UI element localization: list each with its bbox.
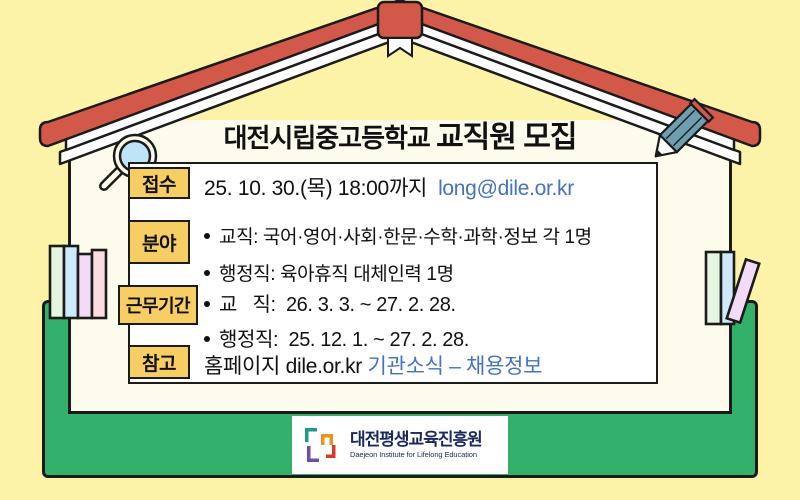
list-item: 행정직: 25. 12. 1. ~ 27. 2. 28.: [204, 323, 469, 352]
list-item: 교 직: 26. 3. 3. ~ 27. 2. 28.: [204, 288, 469, 317]
list-item: 교직: 국어·영어·사회·한문·수학·과학·정보 각 1명: [204, 222, 592, 249]
bullet-icon: [204, 270, 210, 276]
label-period: 근무기간: [118, 285, 198, 325]
field-item-text: 행정직: 육아휴직 대체인력 1명: [219, 259, 454, 286]
poster-canvas: 대전시립중고등학교 교직원 모집 접수 25. 10. 30.(목) 18:00…: [0, 0, 800, 500]
period-item-text: 교 직: 26. 3. 3. ~ 27. 2. 28.: [219, 288, 456, 317]
note-path-link[interactable]: 기관소식 – 채용정보: [368, 355, 543, 378]
bullet-icon: [204, 233, 210, 239]
label-receipt: 접수: [128, 167, 190, 199]
row-note-text: 홈페이지 dile.or.kr 기관소식 – 채용정보: [204, 350, 542, 380]
row-field-list: 교직: 국어·영어·사회·한문·수학·과학·정보 각 1명 행정직: 육아휴직 …: [204, 222, 592, 286]
bullet-icon: [204, 336, 210, 342]
title-emphasis: 교직원 모집: [436, 121, 576, 154]
title-school: 대전시립중고등학교: [224, 123, 430, 153]
organization-logo: 대전평생교육진흥원 Daejeon Institute for Lifelong…: [292, 416, 508, 474]
row-receipt-text: 25. 10. 30.(목) 18:00까지 long@dile.or.kr: [204, 172, 574, 202]
row-period-list: 교 직: 26. 3. 3. ~ 27. 2. 28. 행정직: 25. 12.…: [204, 288, 469, 352]
bullet-icon: [204, 301, 210, 307]
books-right: [700, 242, 770, 334]
receipt-email[interactable]: long@dile.or.kr: [438, 177, 574, 200]
books-left: [44, 236, 114, 328]
list-item: 행정직: 육아휴직 대체인력 1명: [204, 259, 592, 286]
note-homepage[interactable]: 홈페이지 dile.or.kr: [204, 355, 362, 378]
field-item-text: 교직: 국어·영어·사회·한문·수학·과학·정보 각 1명: [219, 222, 592, 249]
logo-name-ko: 대전평생교육진흥원: [350, 431, 482, 448]
logo-name-en: Daejeon Institute for Lifelong Education: [350, 451, 482, 459]
logo-mark-icon: [302, 425, 342, 465]
receipt-deadline: 25. 10. 30.(목) 18:00까지: [204, 177, 427, 200]
logo-text-block: 대전평생교육진흥원 Daejeon Institute for Lifelong…: [350, 431, 482, 459]
label-note: 참고: [128, 345, 190, 379]
label-field: 분야: [128, 220, 190, 264]
period-item-text: 행정직: 25. 12. 1. ~ 27. 2. 28.: [219, 323, 469, 352]
page-title: 대전시립중고등학교 교직원 모집: [0, 112, 800, 156]
